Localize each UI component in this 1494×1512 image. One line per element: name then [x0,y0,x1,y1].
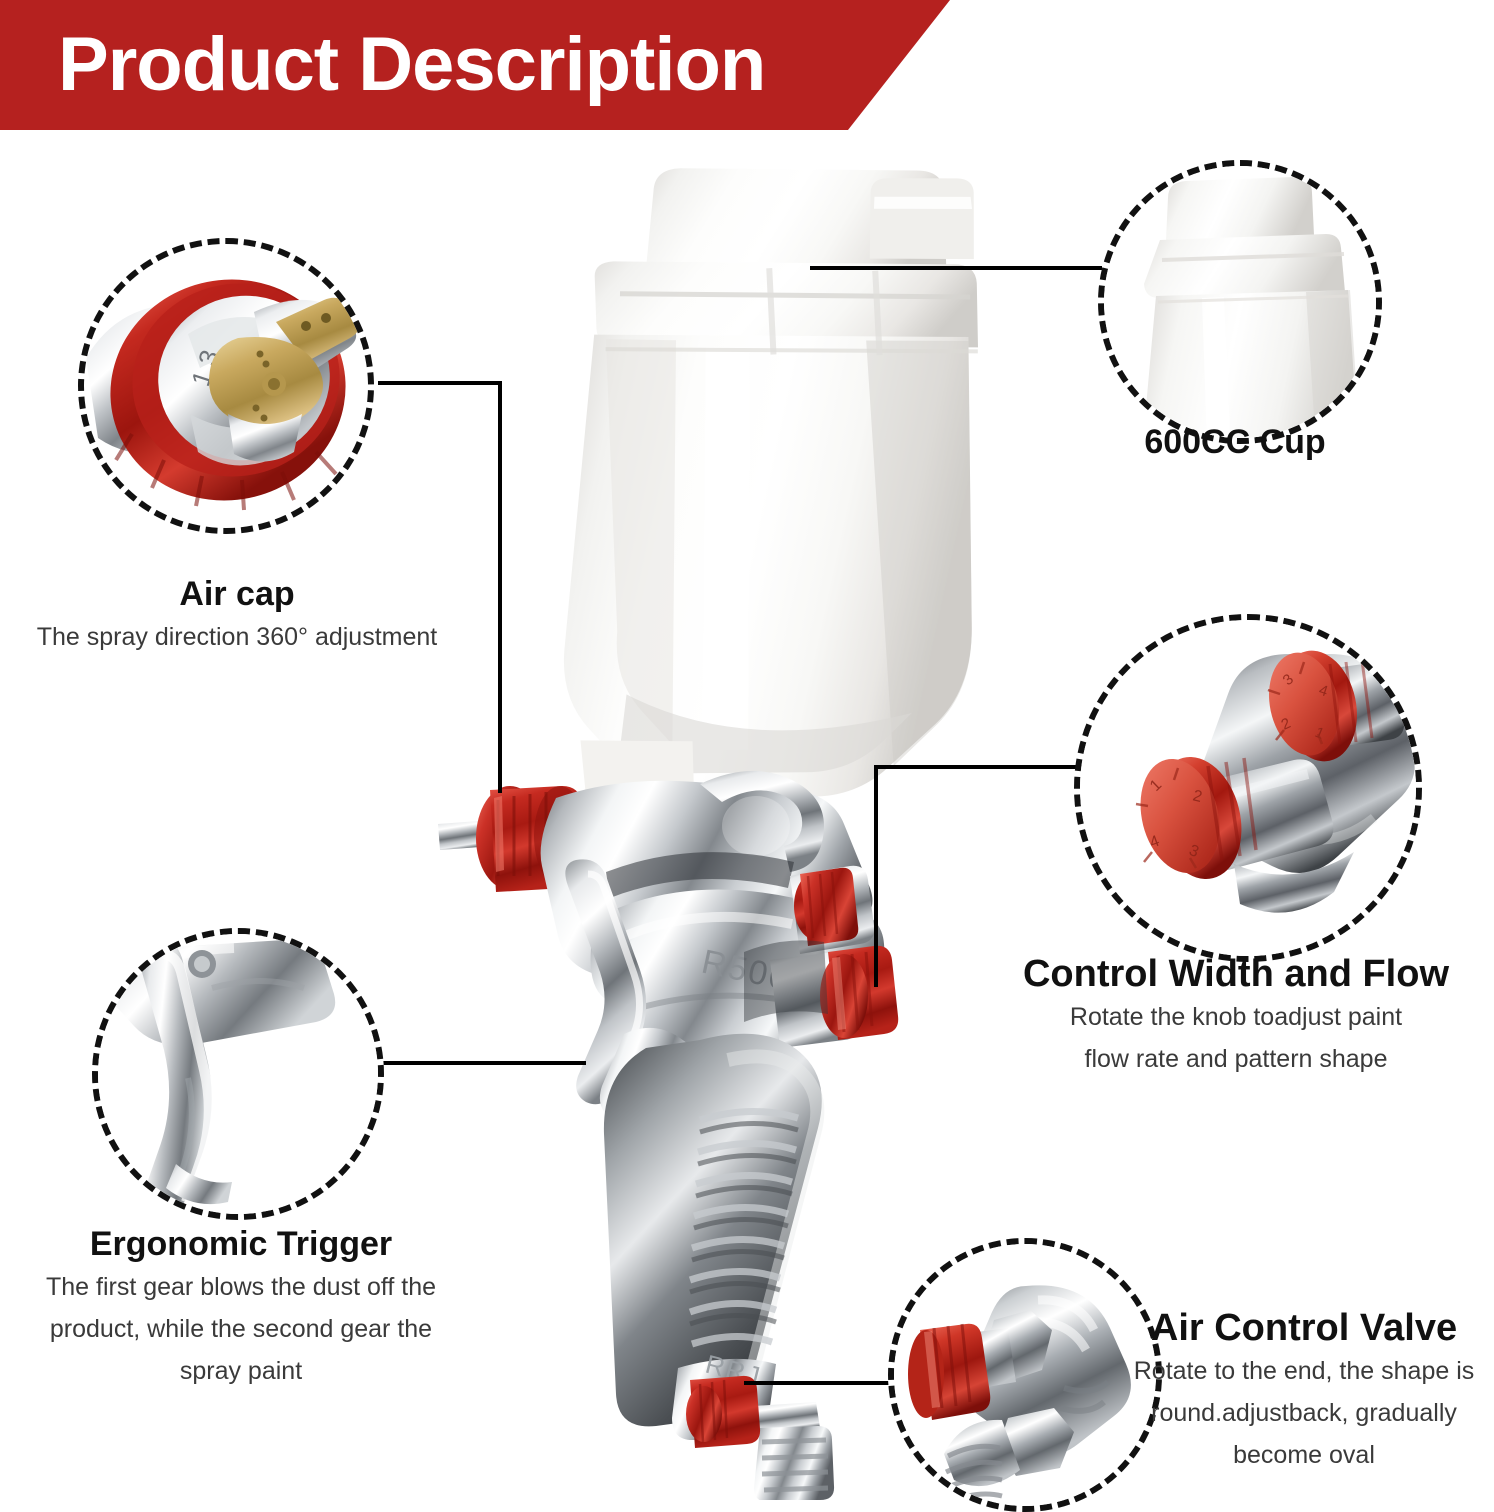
callout-air-control-valve: Air Control Valve Rotate to the end, the… [1118,1306,1490,1476]
detail-circle-air-cap: 1.3 [78,238,374,534]
callout-control-width-flow: Control Width and Flow Rotate the knob t… [986,952,1486,1080]
paint-cup-closeup-svg [1098,160,1382,444]
connector-airvalve-horizontal [744,1381,910,1385]
connector-aircap-horizontal [378,381,502,385]
callout-air-cap-title: Air cap [12,572,462,616]
callout-ergonomic-trigger: Ergonomic Trigger The first gear blows t… [16,1222,466,1392]
callout-air-control-valve-line-1: Rotate to the end, the shape is [1118,1350,1490,1392]
paint-cup [557,156,992,827]
air-valve-knob-red [686,1376,760,1448]
gun-body: R500 [438,771,898,1500]
connector-controlwidth-horizontal [874,765,1076,769]
callout-cup: 600CC Cup [1020,420,1450,464]
callout-cup-title: 600CC Cup [1020,420,1450,464]
callout-air-control-valve-line-2: round.adjustback, gradually [1118,1392,1490,1434]
callout-air-control-valve-line-3: become oval [1118,1434,1490,1476]
connector-controlwidth-vertical [874,765,878,987]
callout-ergonomic-trigger-title: Ergonomic Trigger [16,1222,466,1266]
callout-air-control-valve-title: Air Control Valve [1118,1306,1490,1350]
callout-control-width-flow-line-2: flow rate and pattern shape [986,1038,1486,1080]
callout-air-cap: Air cap The spray direction 360° adjustm… [12,572,462,658]
air-cap-closeup-svg: 1.3 [78,238,374,534]
callout-ergonomic-trigger-line-1: The first gear blows the dust off the [16,1266,466,1308]
callout-ergonomic-trigger-line-3: spray paint [16,1350,466,1392]
control-knobs-closeup-svg: 3 4 2 1 [1074,614,1422,962]
connector-cup-horizontal [810,266,1102,270]
detail-circle-control-knobs: 3 4 2 1 [1074,614,1422,962]
callout-control-width-flow-title: Control Width and Flow [986,952,1486,996]
callout-control-width-flow-line-1: Rotate the knob toadjust paint [986,996,1486,1038]
callout-ergonomic-trigger-line-2: product, while the second gear the [16,1308,466,1350]
trigger-closeup-svg [92,928,384,1220]
connector-aircap-vertical [498,381,502,793]
callout-air-cap-description: The spray direction 360° adjustment [12,616,462,658]
air-valve-red-knob [908,1324,990,1420]
detail-circle-cup [1098,160,1382,444]
infographic-page: Product Description [0,0,1494,1500]
detail-circle-trigger [92,928,384,1220]
